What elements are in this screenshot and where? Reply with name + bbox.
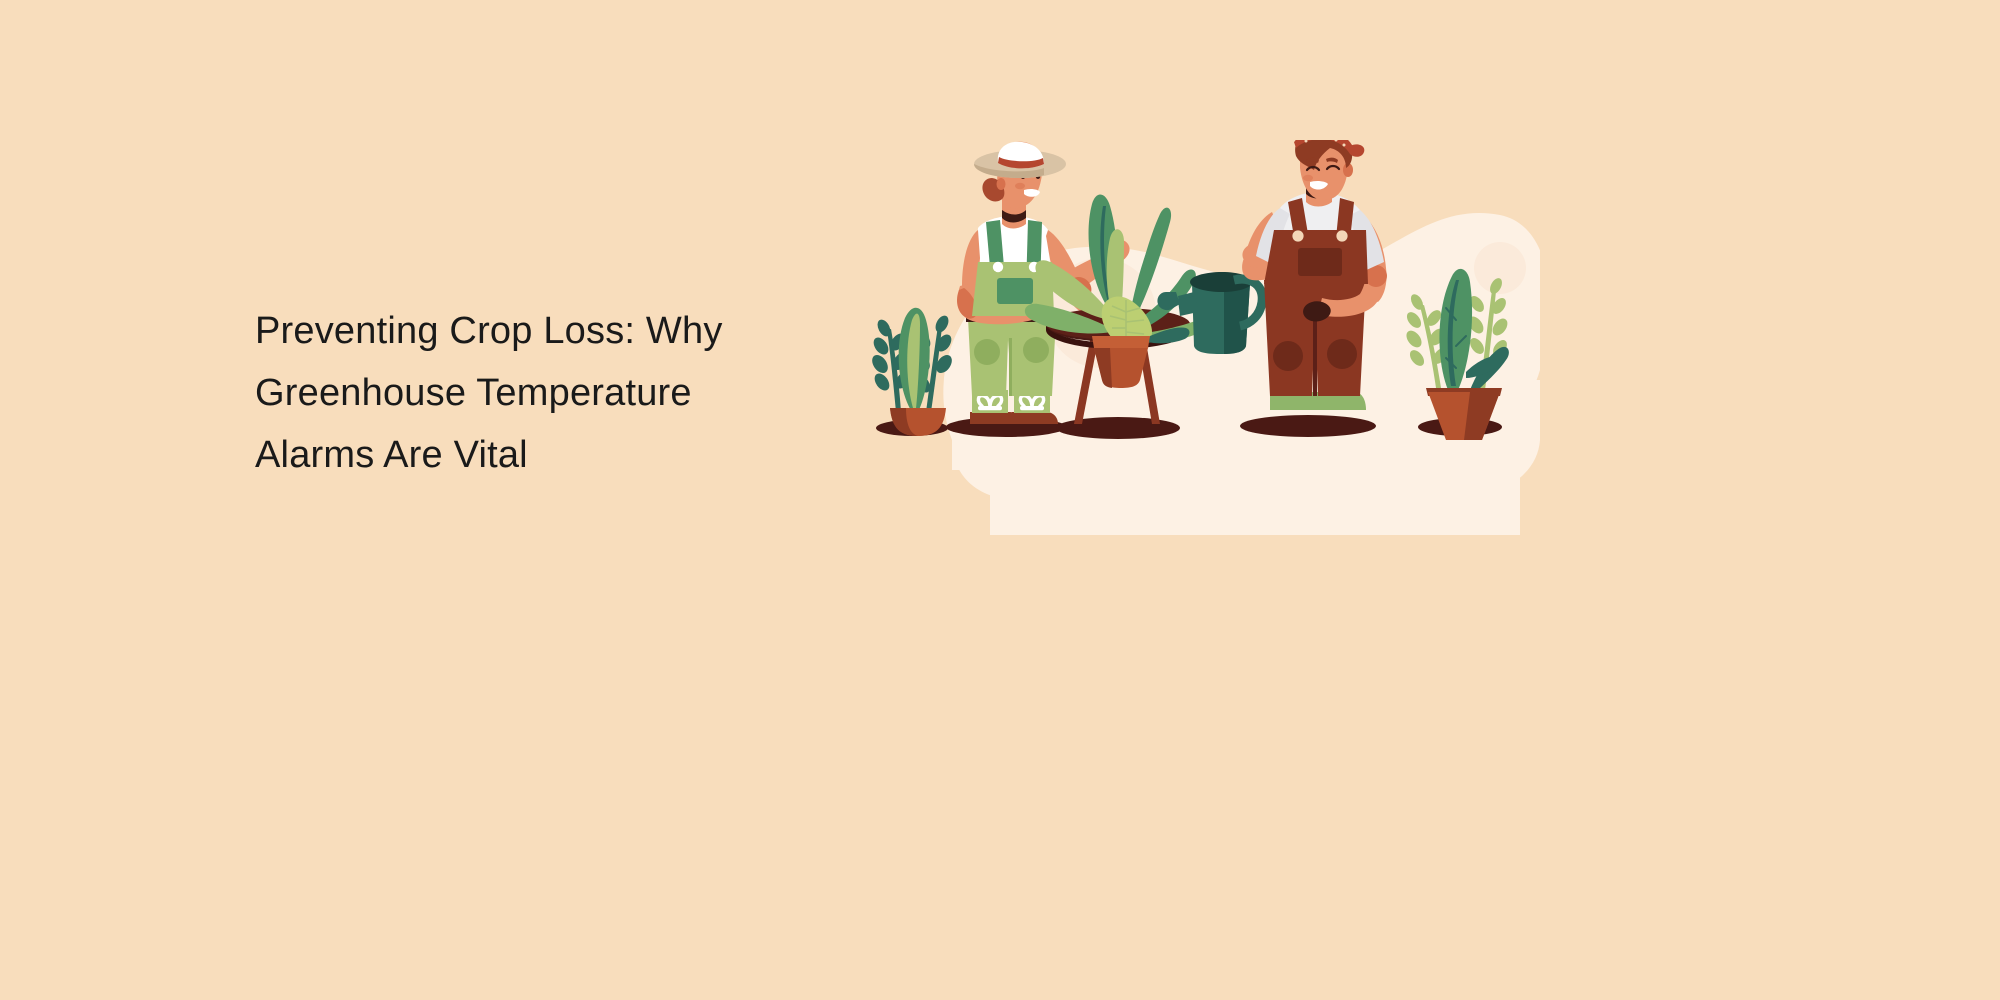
woman-ear <box>997 178 1006 190</box>
man-overalls-dot-2 <box>1327 339 1357 369</box>
man-button-left <box>1292 230 1303 241</box>
page-title: Preventing Crop Loss: Why Greenhouse Tem… <box>255 300 875 486</box>
man-overalls-dot-1 <box>1273 341 1303 371</box>
man-blush <box>1303 175 1313 181</box>
ground-shadow-man <box>1240 415 1376 437</box>
hero-banner: Preventing Crop Loss: Why Greenhouse Tem… <box>0 0 2000 1000</box>
woman-overalls-dot-2 <box>1023 337 1049 363</box>
center-pot-rim <box>1092 336 1150 348</box>
ground-shadow-stool <box>1056 417 1180 439</box>
backdrop-blob-foot <box>990 470 1520 535</box>
woman-blush <box>1015 183 1025 189</box>
woman-button-left <box>993 262 1003 272</box>
title-line-2: Greenhouse Temperature <box>255 362 875 424</box>
woman-bib-pocket <box>997 278 1033 304</box>
left-small-plant <box>869 308 955 436</box>
woman-overalls-leg-split <box>1009 338 1012 396</box>
man-leg-split <box>1313 314 1317 396</box>
woman-overalls-dot-1 <box>974 339 1000 365</box>
hero-illustration <box>860 140 1540 610</box>
title-line-1: Preventing Crop Loss: Why <box>255 300 875 362</box>
man-bib-pocket <box>1298 248 1342 276</box>
title-line-3: Alarms Are Vital <box>255 424 875 486</box>
gardeners-illustration-svg <box>860 140 1540 610</box>
man-bandana-knot <box>1350 144 1364 156</box>
man-button-right <box>1336 230 1347 241</box>
